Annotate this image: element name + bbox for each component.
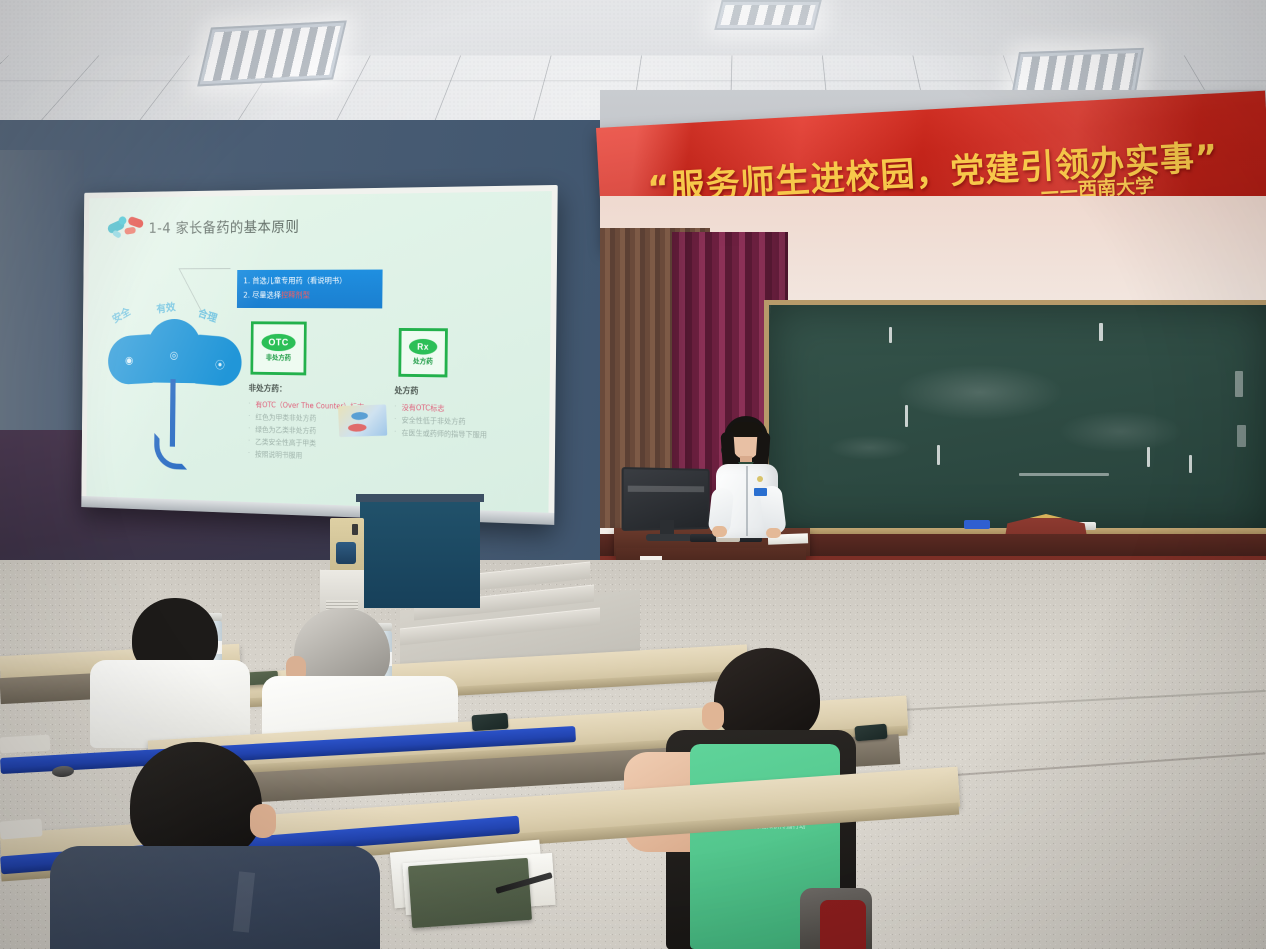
lapel-pin: [757, 476, 763, 482]
callout-line-2: 2. 尽量选择控释剂型: [243, 288, 376, 303]
rx-column-heading: 处方药: [394, 384, 547, 398]
list-item: 在医生或药师的指导下服用: [394, 426, 547, 442]
pill-icon: [107, 214, 145, 239]
rx-bullet-column: 处方药 没有OTC标志 安全性低于非处方药 在医生或药师的指导下服用: [394, 384, 548, 442]
slide-title: 1-4 家长备药的基本原则: [148, 216, 299, 237]
chalk-mark: [905, 405, 908, 427]
attendee-white-shirt-back-row: [118, 598, 234, 738]
navy-jacket: [50, 846, 380, 949]
umbrella-word-effective: 有效: [156, 299, 177, 317]
chalk-mark: [937, 445, 940, 465]
chalk-mark: [1235, 371, 1243, 397]
monitor-base: [646, 534, 692, 541]
chalk-mark: [1237, 425, 1246, 447]
chalk-smudges: [769, 305, 1266, 535]
doorway: [360, 498, 480, 608]
notebook[interactable]: [408, 858, 532, 928]
umbrella-word-safe: 安全: [110, 304, 133, 327]
rx-logo-code: Rx: [409, 339, 437, 355]
bench-cap: [0, 818, 43, 839]
ceiling-light-fixture: [197, 21, 347, 87]
door-frame: [356, 494, 484, 502]
otc-logo: OTC 非处方药: [250, 321, 306, 375]
red-bag: [820, 900, 866, 949]
bench-cap: [0, 735, 50, 754]
head: [714, 648, 820, 740]
presenter-hand-left: [712, 526, 727, 537]
torso: [90, 660, 250, 748]
chalk-mark: [1147, 447, 1150, 467]
slide-callout-box: 1. 首选儿童专用药（看说明书） 2. 尽量选择控释剂型: [237, 270, 383, 309]
chalkboard: [764, 300, 1266, 540]
pill-bottle-icon: ◉: [125, 354, 133, 366]
chalk-mark: [889, 327, 892, 343]
head: [130, 742, 262, 858]
presenter-hand-right: [766, 528, 781, 538]
lecture-hall-photo: “服务师生进校园，党建引领办实事” ——西南大学 1-4 家长备药的基本原则: [0, 0, 1266, 949]
chalk-mark: [1019, 473, 1109, 476]
chalk-mark: [1099, 323, 1103, 341]
ear: [250, 804, 276, 838]
rx-logo-label: 处方药: [413, 356, 433, 366]
name-badge: [754, 488, 767, 496]
smartphone[interactable]: [471, 713, 508, 731]
otc-column-heading: 非处方药：: [248, 382, 394, 396]
rx-logo: Rx 处方药: [398, 328, 448, 377]
ceiling-light-fixture: [714, 0, 821, 30]
list-item: 按照说明书服用: [248, 448, 394, 465]
smartphone[interactable]: [854, 724, 887, 742]
water-dispenser-button[interactable]: [352, 524, 358, 535]
otc-label-photo: [338, 404, 387, 437]
otc-logo-code: OTC: [261, 334, 295, 352]
umbrella-hook: [154, 433, 187, 470]
ear: [702, 702, 724, 730]
projection-screen: 1-4 家长备药的基本原则 1. 首选儿童专用药（看说明书） 2. 尽量选择控释…: [81, 185, 557, 525]
lab-coat-seam: [746, 466, 748, 536]
chalk-mark: [1189, 455, 1192, 473]
water-dispenser-tank: [336, 542, 356, 564]
umbrella-word-rational: 合理: [196, 305, 219, 326]
capsule-icon: ⦿: [215, 357, 225, 372]
blue-eraser: [964, 520, 990, 529]
otc-logo-label: 非处方药: [266, 353, 291, 363]
slide-content: 1-4 家长备药的基本原则 1. 首选儿童专用药（看说明书） 2. 尽量选择控释…: [86, 191, 551, 513]
umbrella-graphic: 安全 有效 合理 ◉ ◎ ⦿: [105, 302, 246, 473]
target-icon: ◎: [170, 349, 178, 361]
attendee-navy-jacket: [60, 742, 360, 949]
presenter-speaker: [700, 416, 790, 544]
callout-highlight: 控释剂型: [281, 291, 310, 300]
callout-line-1: 1. 首选儿童专用药（看说明书）: [243, 273, 376, 288]
